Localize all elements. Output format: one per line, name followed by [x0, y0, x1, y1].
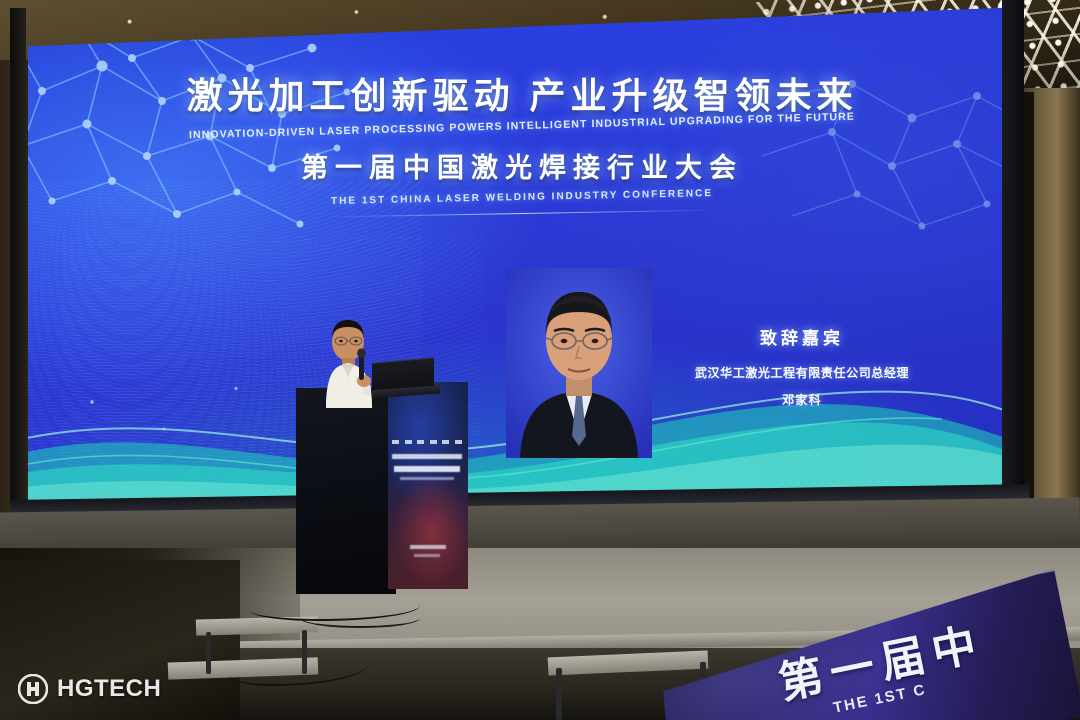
screen-title-block: 激光加工创新驱动 产业升级智领未来 INNOVATION-DRIVEN LASE…	[22, 78, 1022, 214]
speaker-name: 邓家科	[662, 391, 942, 408]
screen-bezel-right	[1002, 0, 1024, 530]
subtitle-chinese: 第一届中国激光焊接行业大会	[22, 146, 1022, 185]
podium-title-line-3	[400, 477, 454, 480]
podium-front-panel	[388, 382, 468, 589]
podium	[296, 382, 468, 594]
podium-title-line-2	[394, 466, 460, 472]
podium-sponsor-logo-row	[392, 439, 462, 445]
step-rail-left	[206, 632, 211, 674]
subtitle-english: THE 1ST CHINA LASER WELDING INDUSTRY CON…	[22, 182, 1022, 214]
speaker-role-label: 致辞嘉宾	[662, 324, 942, 349]
podium-skirt	[296, 388, 396, 594]
conference-stage-photo: 激光加工创新驱动 产业升级智领未来 INNOVATION-DRIVEN LASE…	[0, 0, 1080, 720]
screen-bezel-left	[10, 8, 26, 528]
podium-footer-line-1	[410, 545, 446, 549]
headline-chinese: 激光加工创新驱动 产业升级智领未来	[22, 78, 1022, 114]
podium-footer-line-2	[414, 554, 440, 557]
hgtech-logo-icon	[18, 674, 48, 704]
speaker-info-block: 致辞嘉宾 武汉华工激光工程有限责任公司总经理 邓家科	[662, 324, 942, 408]
step-rail-right-a	[556, 668, 562, 720]
hgtech-brand-text: HGTECH	[57, 675, 161, 703]
podium-title-line-1	[392, 454, 462, 459]
floor-cable-2	[300, 608, 420, 628]
speaker-portrait	[506, 268, 652, 458]
speaker-company-title: 武汉华工激光工程有限责任公司总经理	[662, 364, 942, 381]
hgtech-watermark: HGTECH	[18, 674, 161, 704]
led-screen: 激光加工创新驱动 产业升级智领未来 INNOVATION-DRIVEN LASE…	[22, 6, 1022, 511]
speaker-person	[304, 318, 396, 408]
